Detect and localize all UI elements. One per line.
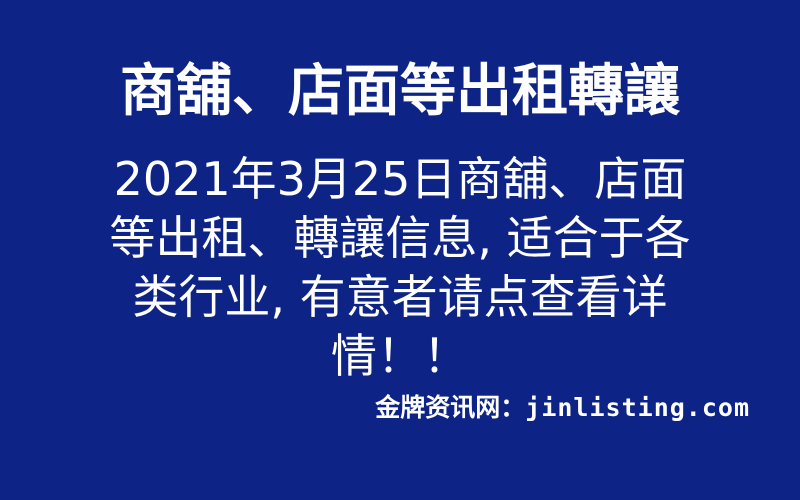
body-line-1: 2021年3月25日商舖、店面 bbox=[100, 150, 700, 209]
body-paragraph: 2021年3月25日商舖、店面 等出租、轉讓信息, 适合于各 类行业, 有意者请… bbox=[100, 150, 700, 386]
site-credit: 金牌资讯网：jinlisting.com bbox=[375, 392, 750, 424]
body-line-3: 类行业, 有意者请点查看详 bbox=[100, 268, 700, 327]
site-name-label: 金牌资讯网： bbox=[375, 393, 525, 422]
site-url-label: jinlisting.com bbox=[525, 393, 750, 422]
promo-banner: 商舖、店面等出租轉讓 2021年3月25日商舖、店面 等出租、轉讓信息, 适合于… bbox=[0, 0, 800, 500]
body-line-2: 等出租、轉讓信息, 适合于各 bbox=[100, 209, 700, 268]
page-title: 商舖、店面等出租轉讓 bbox=[0, 58, 800, 126]
body-line-4: 情！！ bbox=[100, 327, 700, 386]
